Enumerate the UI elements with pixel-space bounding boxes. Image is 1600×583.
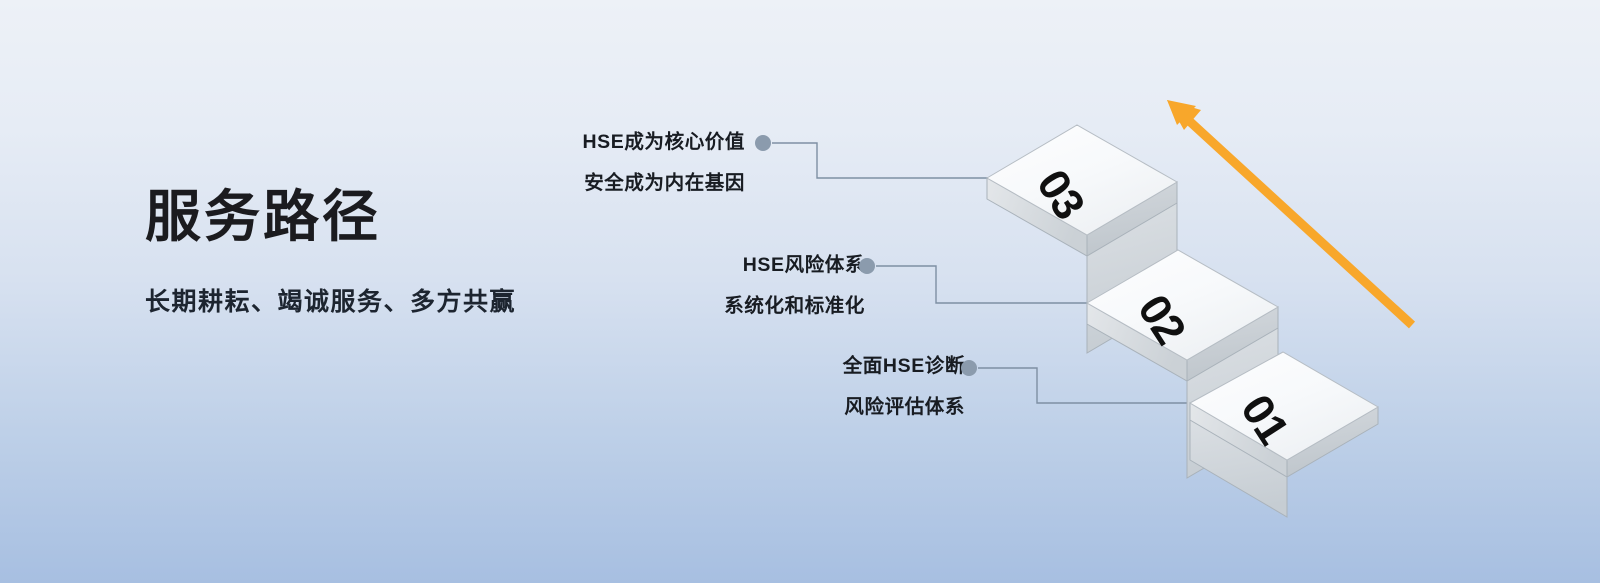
- connector-03: [755, 135, 990, 178]
- slide-canvas: 服务路径 长期耕耘、竭诚服务、多方共赢 HSE成为核心价值 安全成为内在基因 H…: [0, 0, 1600, 583]
- connector-dot-01: [961, 360, 977, 376]
- staircase-diagram: 03 02 01: [0, 0, 1600, 583]
- connector-02: [859, 258, 1100, 303]
- connector-dot-02: [859, 258, 875, 274]
- connector-dot-03: [755, 135, 771, 151]
